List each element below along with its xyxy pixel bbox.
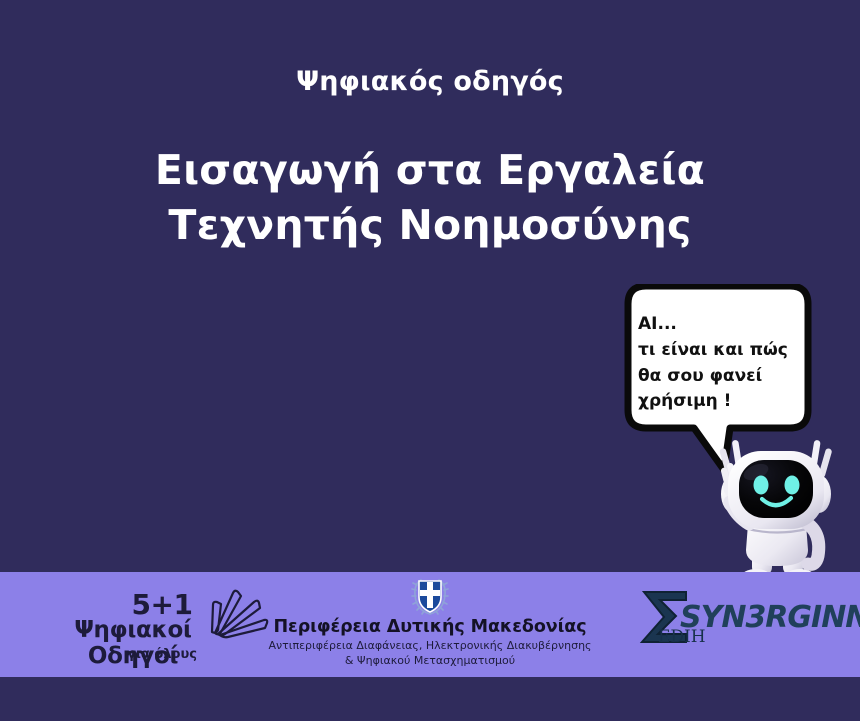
brand-left-subtitle: για όλους <box>92 647 232 662</box>
bubble-line-4: χρήσιμη ! <box>638 389 808 415</box>
kicker-text: Ψηφιακός οδηγός <box>0 66 860 97</box>
bubble-line-1: AI... <box>638 312 808 338</box>
robot-eye-right <box>785 476 800 495</box>
bubble-line-2: τι είναι και πώς <box>638 338 808 364</box>
bubble-line-3: θα σου φανεί <box>638 364 808 390</box>
region-title: Περιφέρεια Δυτικής Μακεδονίας <box>240 617 620 637</box>
brand-region-west-macedonia: Περιφέρεια Δυτικής Μακεδονίας Αντιπεριφέ… <box>240 576 620 676</box>
speech-bubble-text: AI... τι είναι και πώς θα σου φανεί χρήσ… <box>638 312 808 415</box>
brand-synerginn-edih: SYN3RGINN EDIH <box>636 588 846 658</box>
robot-eye-left <box>754 476 769 495</box>
ai-robot-mascot <box>704 432 856 584</box>
title-line-2: Τεχνητής Νοημοσύνης <box>0 198 860 253</box>
edih-label: EDIH <box>658 627 706 647</box>
region-subtitle-line-2: & Ψηφιακού Μετασχηματισμού <box>240 654 620 669</box>
region-subtitle: Αντιπεριφέρεια Διαφάνειας, Ηλεκτρονικής … <box>240 639 620 669</box>
greek-republic-coat-of-arms-icon <box>411 576 449 616</box>
synerginn-wordmark: SYN3RGINN <box>680 600 860 635</box>
page-title: Εισαγωγή στα Εργαλεία Τεχνητής Νοημοσύνη… <box>0 143 860 253</box>
poster-cover: Ψηφιακός οδηγός Εισαγωγή στα Εργαλεία Τε… <box>0 0 860 721</box>
title-line-1: Εισαγωγή στα Εργαλεία <box>0 143 860 198</box>
region-subtitle-line-1: Αντιπεριφέρεια Διαφάνειας, Ηλεκτρονικής … <box>240 639 620 654</box>
footer-band: 5+1 Ψηφιακοί Οδηγοί για όλους <box>0 572 860 677</box>
